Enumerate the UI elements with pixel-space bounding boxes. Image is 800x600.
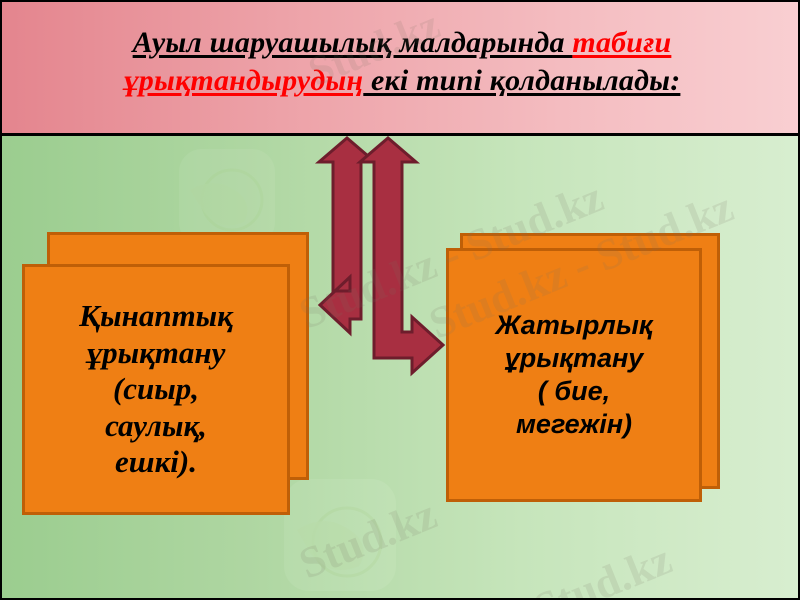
left-box-text: Қынаптық ұрықтану (сиыр, саулық, ешкі).: [73, 298, 239, 481]
title-line-1: Ауыл шаруашылық малдарында табиғи: [2, 24, 800, 62]
left-box-line-5: ешкі).: [79, 444, 233, 481]
right-box[interactable]: Жатырлық ұрықтану ( бие, мегежін): [446, 248, 702, 502]
right-box-line-4: мегежін): [495, 408, 652, 441]
right-box-line-3: ( бие,: [495, 375, 652, 408]
title-line-2-plain: екі типі қолданылады:: [363, 64, 680, 97]
page-title: Ауыл шаруашылық малдарында табиғи ұрықта…: [2, 24, 800, 101]
presentation-slide: Қынаптық ұрықтану (сиыр, саулық, ешкі). …: [0, 0, 800, 600]
left-box-line-4: саулық,: [79, 408, 233, 445]
title-line-1-plain: Ауыл шаруашылық малдарында: [133, 26, 573, 59]
title-line-2-highlight: ұрықтандырудың: [124, 64, 364, 97]
right-box-line-2: ұрықтану: [495, 342, 652, 375]
slide-header-band: Ауыл шаруашылық малдарында табиғи ұрықта…: [2, 2, 800, 136]
right-box-text: Жатырлық ұрықтану ( бие, мегежін): [489, 309, 658, 441]
left-box-line-3: (сиыр,: [79, 371, 233, 408]
left-box[interactable]: Қынаптық ұрықтану (сиыр, саулық, ешкі).: [22, 264, 290, 515]
left-box-line-2: ұрықтану: [79, 335, 233, 372]
title-line-1-highlight: табиғи: [572, 26, 671, 59]
left-box-line-1: Қынаптық: [79, 298, 233, 335]
right-box-line-1: Жатырлық: [495, 309, 652, 342]
title-line-2: ұрықтандырудың екі типі қолданылады:: [2, 62, 800, 100]
